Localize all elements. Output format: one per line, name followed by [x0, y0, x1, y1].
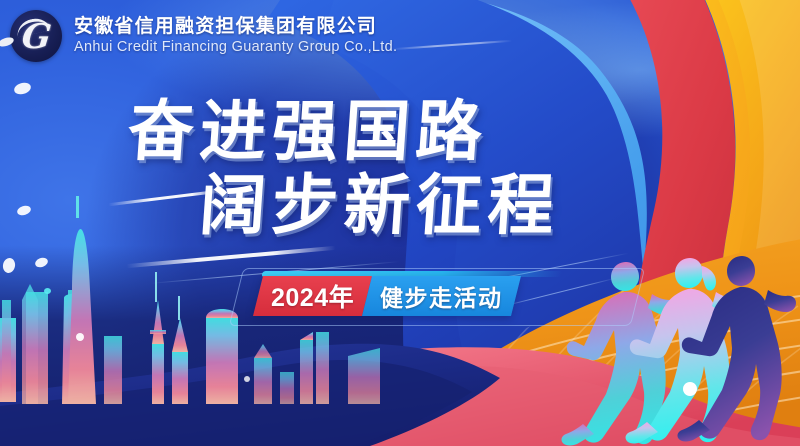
sub-ribbon-year-label: 2024年 — [271, 278, 354, 314]
headline-line-2: 阔步新征程 — [198, 172, 563, 238]
decorative-dot — [76, 333, 84, 341]
company-g-logo-icon: G — [10, 10, 62, 62]
decorative-dot — [44, 288, 51, 294]
company-name-en: Anhui Credit Financing Guaranty Group Co… — [74, 40, 397, 56]
brand-header: G 安徽省信用融资担保集团有限公司 Anhui Credit Financing… — [10, 10, 397, 62]
sub-ribbon-event-label: 健步走活动 — [380, 279, 503, 313]
sub-ribbon-year-section: 2024年 — [253, 276, 372, 316]
company-name-cn: 安徽省信用融资担保集团有限公司 — [74, 16, 397, 38]
promotional-banner: G 安徽省信用融资担保集团有限公司 Anhui Credit Financing… — [0, 0, 800, 446]
decorative-dot — [244, 376, 250, 382]
logo-letter-g: G — [21, 20, 54, 54]
decorative-dot-accent — [683, 382, 697, 396]
company-name-block: 安徽省信用融资担保集团有限公司 Anhui Credit Financing G… — [74, 16, 397, 56]
sub-ribbon-event-section: 健步走活动 — [362, 276, 520, 316]
sub-ribbon: 2024年 健步走活动 — [253, 276, 521, 316]
headline-line-1: 奋进强国路 — [126, 98, 491, 164]
